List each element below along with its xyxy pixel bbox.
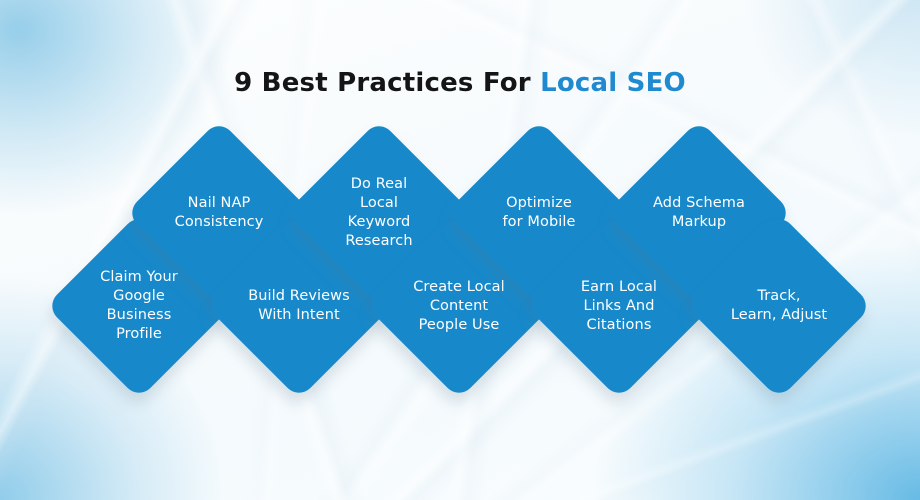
infographic-canvas: 9 Best Practices For Local SEO Claim You…	[0, 0, 920, 500]
